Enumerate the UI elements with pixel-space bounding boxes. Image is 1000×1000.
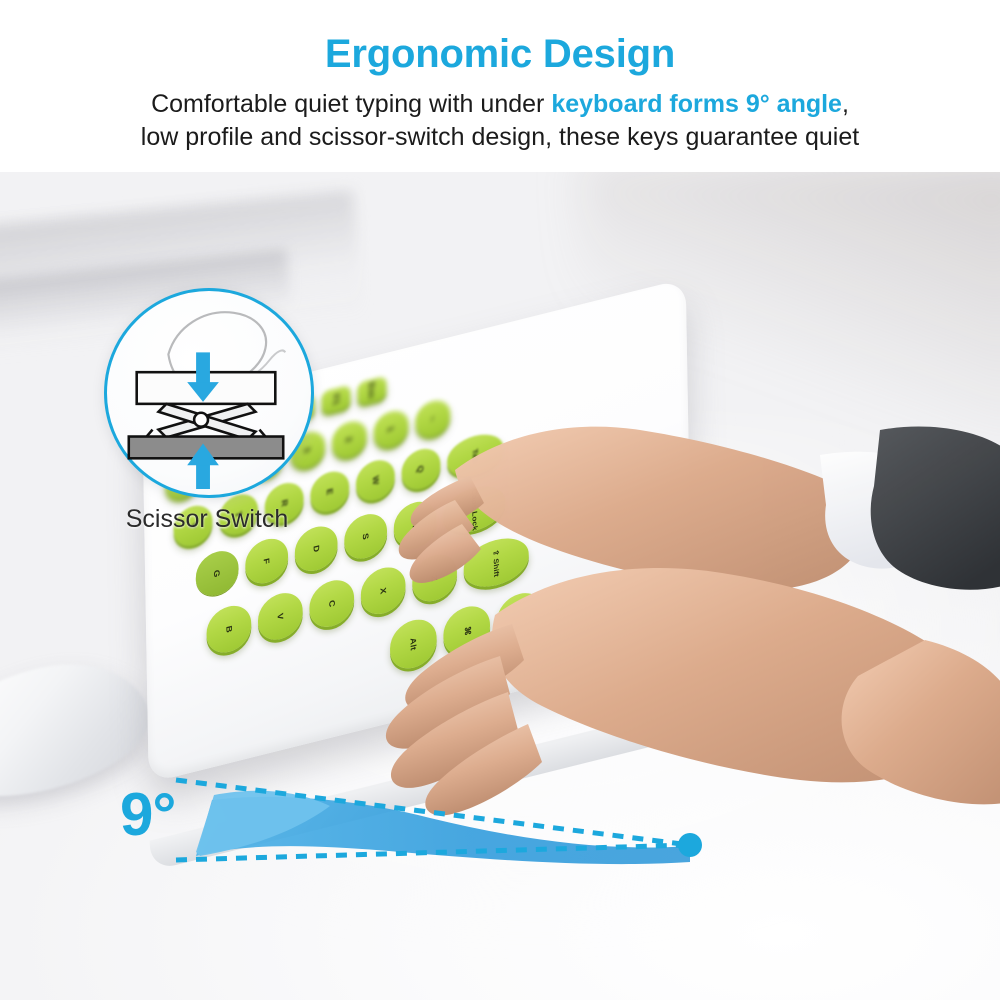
key-label: S bbox=[361, 532, 370, 540]
key-label: D bbox=[312, 544, 321, 553]
subtitle-prefix: Comfortable quiet typing with under bbox=[151, 90, 551, 118]
badge-caption: Scissor Switch bbox=[92, 505, 322, 534]
subtitle-line2: low profile and scissor-switch design, t… bbox=[141, 123, 859, 151]
scissor-switch-badge bbox=[104, 288, 314, 498]
scissor-switch-diagram bbox=[107, 291, 305, 489]
key-label: E bbox=[325, 488, 334, 496]
key-label: Tab bbox=[471, 447, 479, 463]
key-label: 1 bbox=[387, 425, 396, 432]
key-label: 2 bbox=[345, 436, 354, 443]
key-label: Z bbox=[430, 574, 439, 582]
key-label: Alt bbox=[409, 637, 418, 652]
key-label: Q bbox=[416, 464, 425, 473]
key-label: ~ bbox=[428, 415, 437, 423]
key-label: Esc bbox=[367, 381, 376, 400]
key-label: G bbox=[213, 569, 222, 578]
header: Ergonomic Design Comfortable quiet typin… bbox=[0, 0, 1000, 172]
key-label: Caps Lock bbox=[470, 488, 479, 531]
scissor-x-mechanism bbox=[147, 404, 266, 440]
key-label: ⇧ Shift bbox=[492, 548, 500, 577]
key-label: A bbox=[411, 520, 420, 529]
key-label: X bbox=[379, 587, 388, 595]
key-label: W bbox=[371, 475, 380, 486]
subtitle-highlight: keyboard forms 9° angle bbox=[551, 90, 842, 118]
key-label: C bbox=[327, 599, 336, 608]
product-feature-image: F5F4F3F2F1Esc654321~YTREWQTabGFDSACaps L… bbox=[0, 0, 1000, 1000]
key-label: F1 bbox=[331, 393, 340, 406]
subtitle-suffix: , bbox=[842, 90, 849, 118]
subtitle: Comfortable quiet typing with under keyb… bbox=[0, 74, 1000, 154]
key-label: Ctrl bbox=[569, 595, 578, 613]
key-label: B bbox=[224, 625, 233, 634]
key-label: FN bbox=[515, 610, 524, 625]
key-label: F bbox=[262, 557, 271, 565]
angle-value-label: 9° bbox=[120, 780, 175, 849]
page-title: Ergonomic Design bbox=[0, 0, 1000, 74]
key-label: ⌘ bbox=[462, 625, 472, 637]
key-label: V bbox=[276, 612, 285, 620]
